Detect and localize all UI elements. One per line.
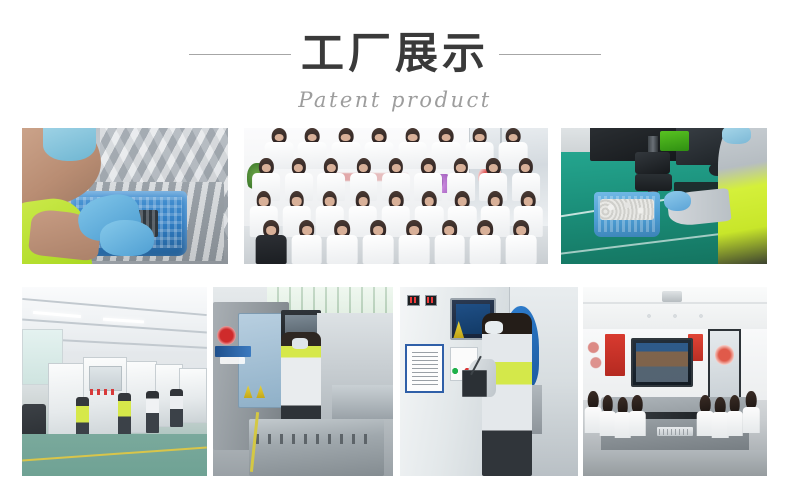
control-panel	[89, 366, 122, 391]
indicator-lights	[90, 389, 116, 395]
metal-fixture-table	[249, 419, 384, 476]
photo-assembly-basket[interactable]	[22, 128, 228, 264]
photo-cnc-machine[interactable]	[213, 287, 393, 476]
wall-calligraphy	[587, 338, 604, 376]
photo-microscope-inspection[interactable]	[561, 128, 767, 264]
fixture-bolts	[256, 434, 375, 443]
face-mask	[292, 338, 308, 349]
divider-line-right	[499, 54, 601, 55]
machine-label	[220, 357, 245, 365]
presentation-display	[631, 338, 694, 387]
photo-qc-inspection[interactable]	[400, 287, 578, 476]
door-emblem	[715, 344, 733, 367]
epoxy-floor	[22, 434, 207, 476]
gallery-row-top: 深圳市恒歌科技有限公司欢迎您! HENGKO	[22, 128, 767, 264]
photo-production-line[interactable]	[22, 287, 207, 476]
person	[503, 220, 539, 264]
microscope-base	[635, 174, 672, 190]
photo-gallery: 深圳市恒歌科技有限公司欢迎您! HENGKO	[22, 128, 767, 476]
keyboard	[657, 427, 694, 436]
photo-company-group[interactable]: 深圳市恒歌科技有限公司欢迎您! HENGKO	[244, 128, 548, 264]
ceiling-rail	[583, 302, 767, 304]
person	[253, 220, 289, 264]
manufacturer-logo	[217, 325, 237, 346]
line-operator	[170, 389, 183, 427]
digital-readout	[425, 295, 437, 306]
staff-group	[244, 157, 524, 252]
factory-showcase-page: 工厂展示 Patent product	[0, 0, 790, 500]
person	[467, 220, 503, 264]
microscope-head	[635, 152, 670, 174]
title-row: 工厂展示	[0, 28, 790, 80]
sintered-metal-parts	[600, 199, 654, 221]
ceiling-projector	[662, 291, 682, 302]
person	[396, 220, 432, 264]
gloved-hand	[664, 191, 691, 211]
equipment-cabinet	[179, 368, 207, 423]
line-operator	[146, 391, 159, 433]
green-camera-module	[660, 131, 689, 151]
attendee	[727, 395, 744, 437]
person	[432, 220, 468, 264]
posted-work-instruction	[405, 344, 444, 393]
page-subtitle: Patent product	[0, 88, 790, 112]
photo-meeting-room[interactable]	[583, 287, 767, 476]
face-mask	[43, 128, 97, 161]
blue-glove-right	[100, 220, 154, 255]
attendee	[629, 395, 646, 437]
attendee	[743, 391, 760, 433]
staff-row-4	[244, 220, 548, 264]
gallery-row-bottom	[22, 287, 767, 476]
divider-line-left	[189, 54, 291, 55]
person	[325, 220, 361, 264]
machine-nameplate	[215, 346, 251, 357]
line-operator	[118, 393, 131, 438]
digital-readout	[407, 295, 419, 306]
section-header: 工厂展示 Patent product	[0, 0, 790, 122]
work-station-counter	[332, 385, 393, 419]
person	[289, 220, 325, 264]
face-mask	[722, 128, 751, 144]
face-mask	[485, 321, 503, 334]
red-wall-banner	[605, 334, 625, 376]
person	[360, 220, 396, 264]
clipboard	[462, 370, 487, 396]
glass-door	[708, 329, 741, 405]
page-title: 工厂展示	[301, 33, 489, 76]
meeting-room-floor	[583, 450, 767, 476]
ceiling-downlights	[638, 313, 712, 319]
